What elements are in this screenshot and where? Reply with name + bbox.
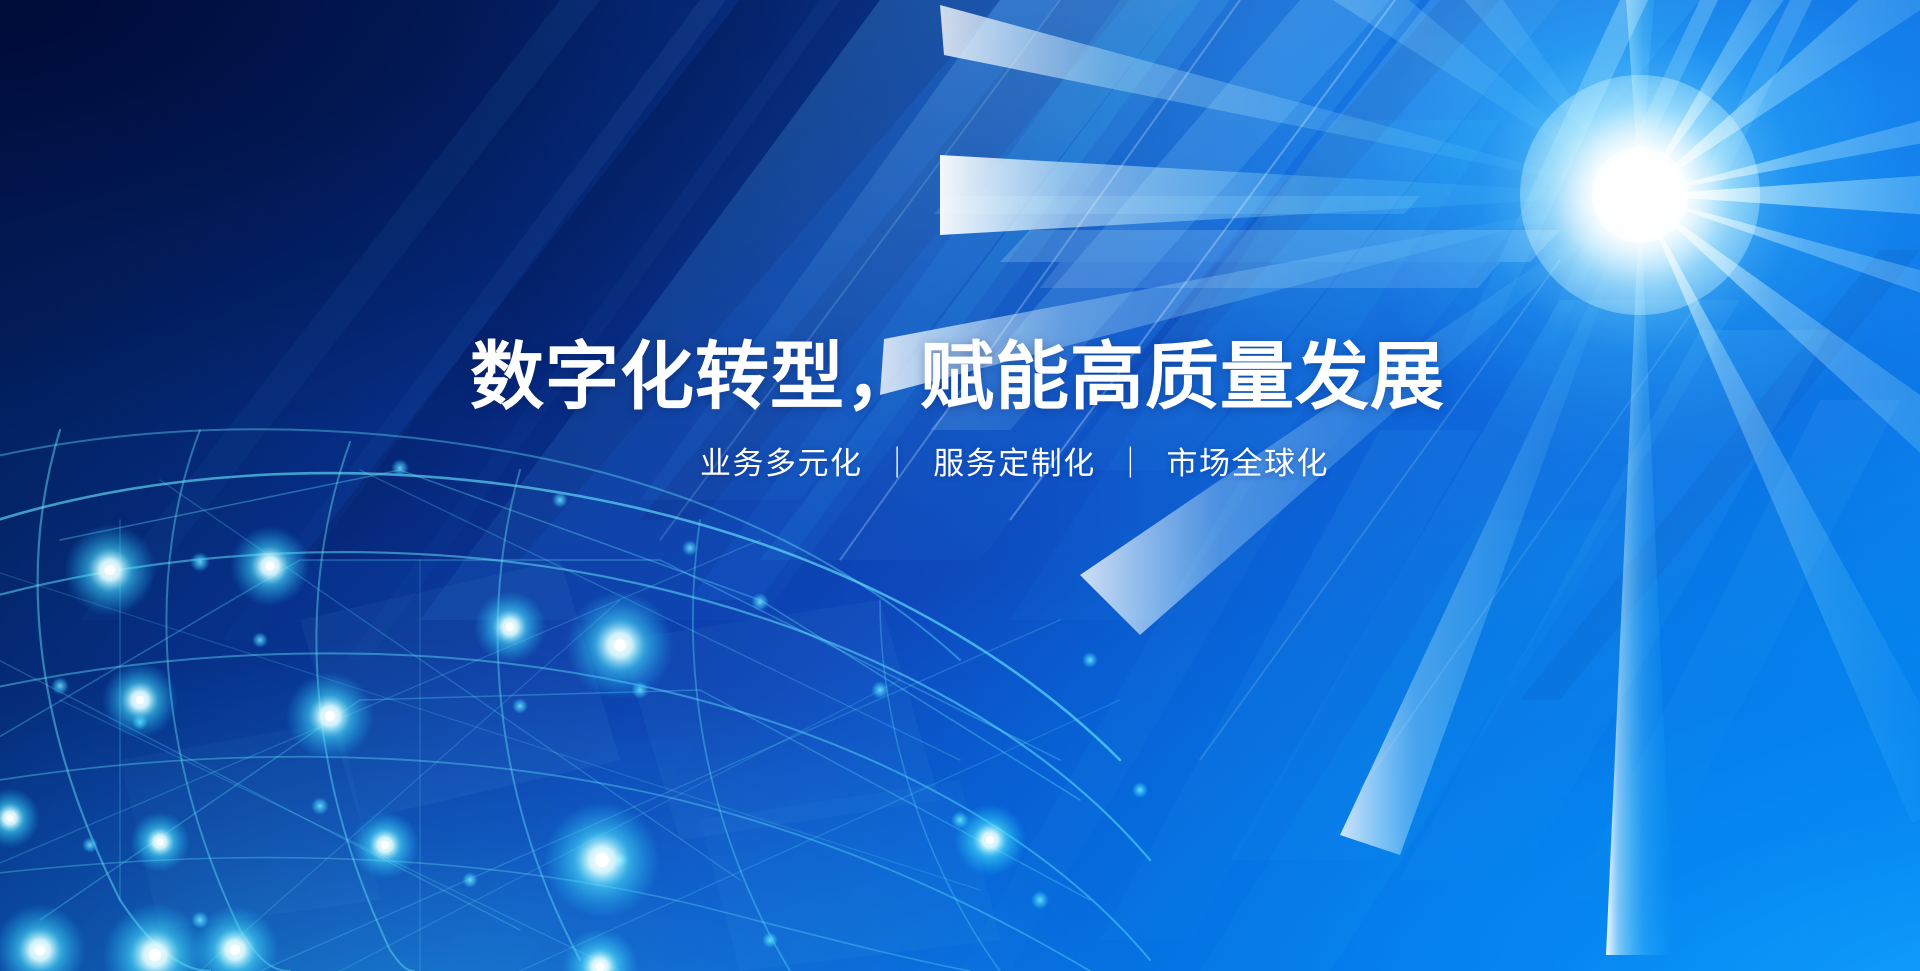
subtitle-item-2: 服务定制化 — [933, 446, 1096, 481]
light-burst-rays — [0, 0, 1920, 971]
subtitle-separator-1: ｜ — [873, 446, 924, 481]
subtitle-item-3: 市场全球化 — [1167, 446, 1330, 481]
subtitle: 业务多元化 ｜ 服务定制化 ｜ 市场全球化 — [700, 448, 1329, 479]
subtitle-item-1: 业务多元化 — [700, 446, 863, 481]
subtitle-separator-2: ｜ — [1106, 446, 1157, 481]
banner-canvas: 数字化转型，赋能高质量发展 业务多元化 ｜ 服务定制化 ｜ 市场全球化 — [0, 0, 1920, 971]
headline: 数字化转型，赋能高质量发展 — [470, 340, 1445, 414]
